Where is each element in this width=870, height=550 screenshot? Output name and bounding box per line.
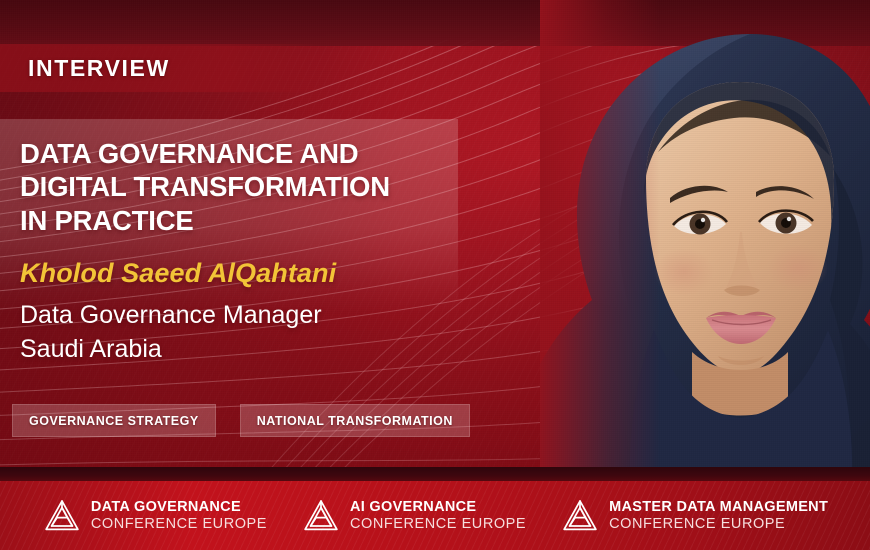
speaker-role-title: Data Governance Manager	[20, 298, 322, 332]
headline-line-3: IN PRACTICE	[20, 204, 450, 237]
penrose-triangle-icon	[42, 496, 82, 536]
footer-logo-line2: CONFERENCE EUROPE	[609, 517, 828, 532]
footer-logo-master-data-management[interactable]: MASTER DATA MANAGEMENT CONFERENCE EUROPE	[560, 496, 828, 536]
footer-logo-line1: DATA GOVERNANCE	[91, 500, 267, 515]
footer-logo-line2: CONFERENCE EUROPE	[350, 517, 526, 532]
topic-tag-national-transformation[interactable]: NATIONAL TRANSFORMATION	[240, 404, 470, 437]
interview-badge-label: INTERVIEW	[28, 55, 170, 82]
footer-separator	[0, 467, 870, 481]
speaker-details: Data Governance Manager Saudi Arabia	[20, 298, 322, 366]
footer-logo-text: AI GOVERNANCE CONFERENCE EUROPE	[350, 500, 526, 531]
footer-logo-line2: CONFERENCE EUROPE	[91, 517, 267, 532]
footer-logo-ai-governance[interactable]: AI GOVERNANCE CONFERENCE EUROPE	[301, 496, 526, 536]
speaker-name: Kholod Saeed AlQahtani	[20, 258, 336, 289]
footer-logo-data-governance[interactable]: DATA GOVERNANCE CONFERENCE EUROPE	[42, 496, 267, 536]
footer-logo-bar: DATA GOVERNANCE CONFERENCE EUROPE AI GOV…	[0, 481, 870, 550]
topic-tag-governance-strategy[interactable]: GOVERNANCE STRATEGY	[12, 404, 216, 437]
footer-logo-line1: AI GOVERNANCE	[350, 500, 526, 515]
promo-card: INTERVIEW DATA GOVERNANCE AND DIGITAL TR…	[0, 0, 870, 550]
footer-logo-text: MASTER DATA MANAGEMENT CONFERENCE EUROPE	[609, 500, 828, 531]
footer-logo-line1: MASTER DATA MANAGEMENT	[609, 500, 828, 515]
footer-logo-text: DATA GOVERNANCE CONFERENCE EUROPE	[91, 500, 267, 531]
topic-tag-list: GOVERNANCE STRATEGY NATIONAL TRANSFORMAT…	[12, 404, 470, 437]
penrose-triangle-icon	[301, 496, 341, 536]
penrose-triangle-icon	[560, 496, 600, 536]
headline-line-1: DATA GOVERNANCE AND	[20, 137, 450, 170]
headline-line-2: DIGITAL TRANSFORMATION	[20, 170, 450, 203]
speaker-country: Saudi Arabia	[20, 332, 322, 366]
page-title: DATA GOVERNANCE AND DIGITAL TRANSFORMATI…	[20, 137, 450, 237]
